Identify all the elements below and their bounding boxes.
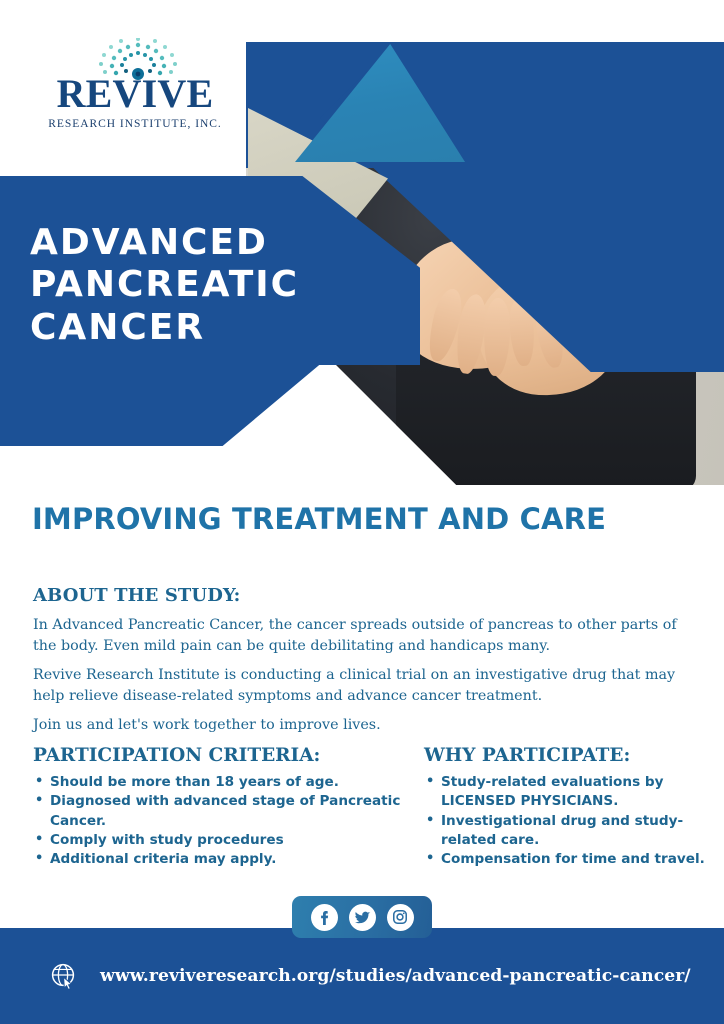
about-body: In Advanced Pancreatic Cancer, the cance… [33,615,685,745]
subtitle: IMPROVING TREATMENT AND CARE [32,502,606,536]
list-item: Study-related evaluations by LICENSED PH… [424,773,714,812]
title-line-3: CANCER [30,307,360,349]
why-list: Study-related evaluations by LICENSED PH… [424,773,714,869]
facebook-icon[interactable] [311,904,338,931]
why-participate-section: WHY PARTICIPATE: Study-related evaluatio… [424,745,714,869]
brand-logo: REVIVE RESEARCH INSTITUTE, INC. [40,38,230,138]
about-heading: ABOUT THE STUDY: [33,585,240,606]
criteria-heading: PARTICIPATION CRITERIA: [33,745,403,766]
instagram-icon[interactable] [387,904,414,931]
participation-criteria-section: PARTICIPATION CRITERIA: Should be more t… [33,745,403,869]
list-item: Should be more than 18 years of age. [33,773,403,792]
about-paragraph: In Advanced Pancreatic Cancer, the cance… [33,615,685,656]
list-item: Investigational drug and study-related c… [424,812,714,851]
list-item: Diagnosed with advanced stage of Pancrea… [33,792,403,831]
footer: www.reviveresearch.org/studies/advanced-… [0,928,724,1024]
why-heading: WHY PARTICIPATE: [424,745,714,766]
twitter-icon[interactable] [349,904,376,931]
title-line-1: ADVANCED [30,222,360,264]
header: ADVANCED PANCREATIC CANCER [0,0,724,490]
page-title: ADVANCED PANCREATIC CANCER [30,222,360,349]
website-url[interactable]: www.reviveresearch.org/studies/advanced-… [100,966,691,986]
title-line-2: PANCREATIC [30,264,360,306]
criteria-list: Should be more than 18 years of age. Dia… [33,773,403,869]
about-paragraph: Revive Research Institute is conducting … [33,665,685,706]
list-item: Comply with study procedures [33,831,403,850]
list-item: Compensation for time and travel. [424,850,714,869]
list-item: Additional criteria may apply. [33,850,403,869]
logo-tagline: RESEARCH INSTITUTE, INC. [40,118,230,130]
logo-wordmark: REVIVE [40,74,230,114]
poster: ADVANCED PANCREATIC CANCER [0,0,724,1024]
about-paragraph: Join us and let's work together to impro… [33,715,685,736]
globe-cursor-icon [50,962,78,990]
social-bar [292,896,432,938]
